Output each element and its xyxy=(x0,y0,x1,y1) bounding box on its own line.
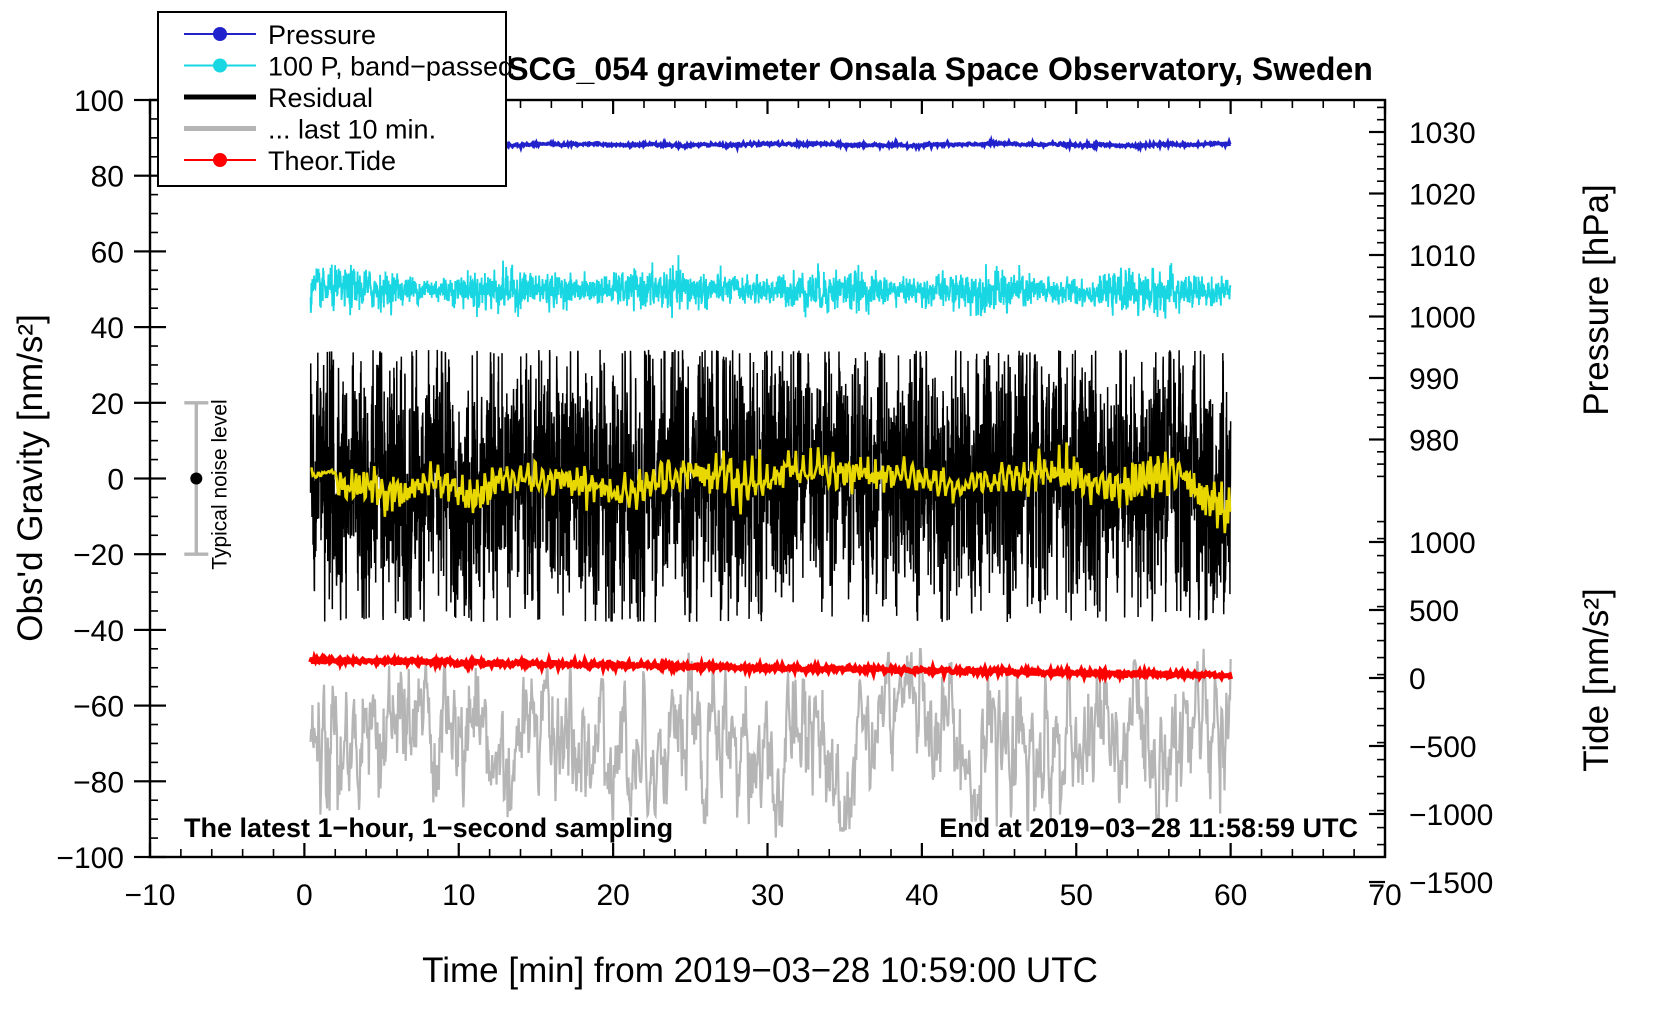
svg-text:60: 60 xyxy=(1214,879,1247,912)
svg-text:990: 990 xyxy=(1409,363,1459,396)
svg-text:40: 40 xyxy=(905,879,938,912)
svg-text:980: 980 xyxy=(1409,425,1459,458)
plot-canvas: −10010203040506070100806040200−20−40−60−… xyxy=(0,0,1660,1020)
typical-noise-label: Typical noise level xyxy=(208,399,231,569)
svg-text:20: 20 xyxy=(91,388,124,421)
svg-text:1000: 1000 xyxy=(1409,527,1476,560)
svg-text:−20: −20 xyxy=(73,539,124,572)
annotation-end-time: End at 2019−03−28 11:58:59 UTC xyxy=(939,813,1358,843)
legend-marker xyxy=(213,153,227,167)
svg-text:80: 80 xyxy=(91,161,124,194)
svg-text:70: 70 xyxy=(1368,879,1401,912)
y-axis-title: Obs'd Gravity [nm/s²] xyxy=(11,314,50,642)
svg-text:0: 0 xyxy=(107,464,124,497)
svg-text:1030: 1030 xyxy=(1409,117,1476,150)
page-title: SCG_054 gravimeter Onsala Space Observat… xyxy=(507,51,1373,87)
svg-text:30: 30 xyxy=(751,879,784,912)
legend-label: Theor.Tide xyxy=(268,146,396,176)
legend-marker xyxy=(213,27,227,41)
svg-text:−1500: −1500 xyxy=(1409,867,1493,900)
svg-text:60: 60 xyxy=(91,236,124,269)
svg-text:1020: 1020 xyxy=(1409,179,1476,212)
right-lower-axis-title: Tide [nm/s²] xyxy=(1577,588,1616,771)
svg-text:−1000: −1000 xyxy=(1409,799,1493,832)
legend-label: ... last 10 min. xyxy=(268,115,436,145)
svg-text:40: 40 xyxy=(91,312,124,345)
svg-text:1000: 1000 xyxy=(1409,302,1476,335)
gravimeter-chart: −10010203040506070100806040200−20−40−60−… xyxy=(0,0,1660,1020)
svg-text:100: 100 xyxy=(74,85,124,118)
right-upper-axis-title: Pressure [hPa] xyxy=(1577,184,1616,416)
svg-text:−80: −80 xyxy=(73,766,124,799)
svg-text:0: 0 xyxy=(1409,663,1426,696)
svg-text:−500: −500 xyxy=(1409,731,1477,764)
svg-text:20: 20 xyxy=(596,879,629,912)
legend-label: 100 P, band−passed xyxy=(268,52,513,82)
annotation-sampling: The latest 1−hour, 1−second sampling xyxy=(184,813,673,843)
svg-text:−10: −10 xyxy=(125,879,176,912)
svg-text:−100: −100 xyxy=(56,842,124,875)
svg-text:−40: −40 xyxy=(73,615,124,648)
legend-label: Residual xyxy=(268,83,373,113)
svg-text:500: 500 xyxy=(1409,595,1459,628)
legend: Pressure100 P, band−passedResidual... la… xyxy=(158,12,513,186)
svg-text:0: 0 xyxy=(296,879,313,912)
x-axis-title: Time [min] from 2019−03−28 10:59:00 UTC xyxy=(422,951,1098,990)
svg-text:1010: 1010 xyxy=(1409,240,1476,273)
legend-label: Pressure xyxy=(268,20,376,50)
legend-marker xyxy=(213,59,227,73)
svg-text:−60: −60 xyxy=(73,691,124,724)
svg-text:10: 10 xyxy=(442,879,475,912)
svg-text:50: 50 xyxy=(1060,879,1093,912)
